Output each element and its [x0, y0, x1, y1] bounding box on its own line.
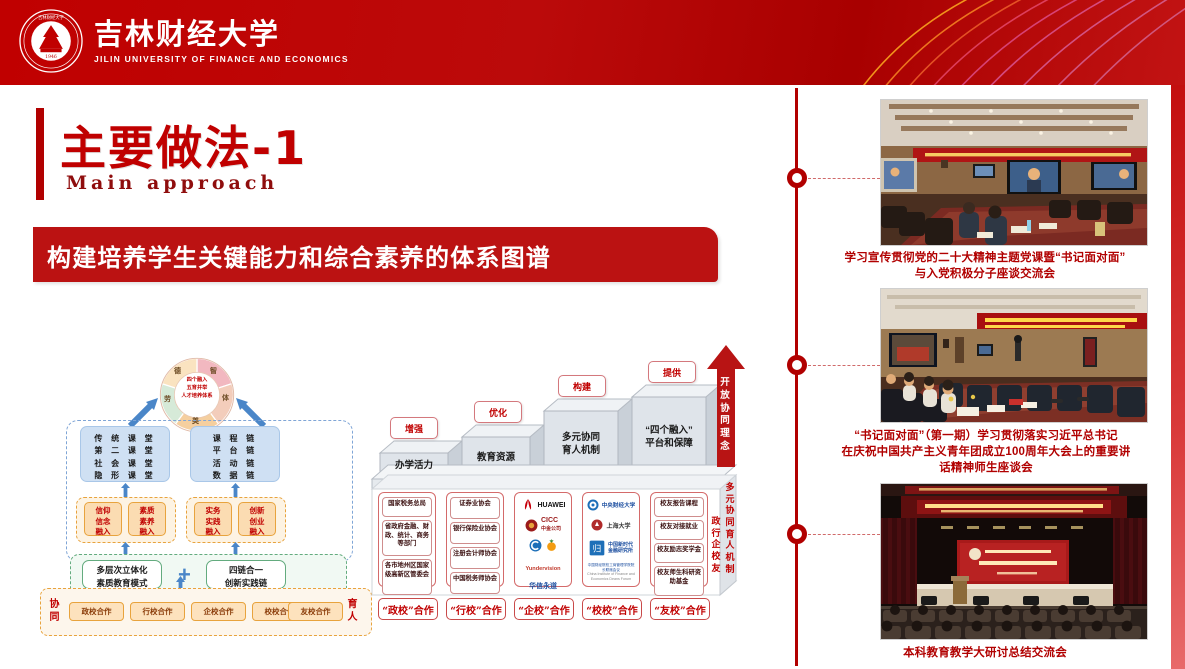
blue-c-icon — [529, 539, 542, 552]
slide-header: 1946 吉林财经大学 吉林财经大学 JILIN UNIVERSITY OF F… — [0, 0, 1185, 85]
fusion-belief-pill: 信仰 信念 融入 — [84, 502, 122, 536]
competency-model-diagram: 四个融入 五育并举 人才培养体系 智 体 美 劳 德 传 统 课 堂 第 二 课… — [40, 350, 370, 640]
svg-text:归: 归 — [593, 542, 602, 554]
coop-pill-4: 友校合作 — [288, 602, 343, 621]
photo-caption-1: “书记面对面”（第一期）学习贯彻落实习近平总书记 在庆祝中国共产主义青年团成立1… — [818, 428, 1154, 476]
step-tag-3: 提供 — [648, 361, 696, 383]
card-item: 校友励志奖学金 — [654, 543, 704, 563]
slide-root: 1946 吉林财经大学 吉林财经大学 JILIN UNIVERSITY OF F… — [0, 0, 1185, 669]
wheel-center-label: 四个融入 五育并举 人才培养体系 — [178, 377, 216, 400]
isometric-mechanism-diagram: 办学活力 教育资源 多元协同育人机制 “四个融入”平台和保障 增强 优化 构建 … — [368, 355, 768, 640]
card-item: 各市地州区国家级高新区管委会 — [382, 559, 432, 595]
coop-label-2: “企校”合作 — [514, 598, 574, 620]
iso-side-text-2: 政行企校友 — [710, 517, 722, 575]
photo-caption-0: 学习宣传贯彻党的二十大精神主题党课暨“书记面对面” 与入党积极分子座谈交流会 — [820, 250, 1150, 282]
photo-conference-room-meeting[interactable] — [880, 99, 1148, 246]
wheel-segment-de: 德 — [174, 366, 181, 376]
partner-card-2: HUAWEI CICC中金公司 Yunder — [514, 492, 572, 587]
photo-2-scene — [881, 289, 1147, 422]
card-item: 校友报告课程 — [654, 497, 704, 517]
band-label-left: 协同 — [48, 599, 61, 624]
step-tag-1: 优化 — [474, 401, 522, 423]
university-name-cn: 吉林财经大学 — [94, 18, 349, 50]
university-logo: 1946 吉林财经大学 吉林财经大学 JILIN UNIVERSITY OF F… — [18, 8, 349, 74]
coop-pill-1: 行校合作 — [130, 602, 185, 621]
card-item: 校友对接就业 — [654, 520, 704, 540]
coop-label-1: “行校”合作 — [446, 598, 506, 620]
orange-fruit-icon — [545, 539, 558, 552]
institute-icon: 归 — [589, 540, 605, 556]
timeline-dot-2[interactable] — [787, 524, 807, 544]
fusion-innovation-pill: 创新 创业 融入 — [238, 502, 276, 536]
arrow-up-right-1-icon — [231, 483, 240, 497]
logo-cicc: CICC中金公司 — [518, 517, 568, 533]
logo-cufe: 中央财经大学 — [586, 497, 636, 513]
partner-card-3: 中央财经大学 上海大学 归 中国新时代金融研究所 中国财经院校工商管理学院院长联… — [582, 492, 640, 587]
card-item: 中国税务师协会 — [450, 572, 500, 594]
band-label-right: 育人 — [346, 599, 359, 624]
arrow-vertical-text: 开放协同理念 — [719, 377, 731, 454]
coop-pill-2: 企校合作 — [191, 602, 246, 621]
partner-card-4: 校友报告课程 校友对接就业 校友励志奖学金 校友师生科研资助基金 — [650, 492, 708, 587]
arrow-up-left-1-icon — [121, 483, 130, 497]
card-item: 银行保险业协会 — [450, 522, 500, 544]
photo-seminar-room-attendees[interactable] — [880, 288, 1148, 423]
classroom-chain-box: 传 统 课 堂 第 二 课 堂 社 会 课 堂 隐 形 课 堂 — [80, 426, 170, 482]
step-tag-0: 增强 — [390, 417, 438, 439]
title-accent-bar — [36, 108, 44, 200]
fusion-quality-pill: 素质 素养 融入 — [128, 502, 166, 536]
photo-auditorium-stage[interactable] — [880, 483, 1148, 640]
wheel-segment-zhi: 智 — [210, 366, 217, 376]
iso-side-text-1: 多元协同育人机制 — [724, 483, 736, 577]
section-banner-text: 构建培养学生关键能力和综合素养的体系图谱 — [47, 238, 551, 273]
card-item: 校友师生科研资助基金 — [654, 566, 704, 596]
step-label-0: 办学活力 — [380, 453, 448, 479]
step-label-3: “四个融入”平台和保障 — [632, 397, 706, 479]
photo-3-scene — [881, 484, 1147, 639]
header-swoosh-decoration — [685, 0, 1185, 85]
step-label-1: 教育资源 — [462, 437, 530, 479]
logo-shu: 上海大学 — [586, 517, 636, 533]
wheel-segment-ti: 体 — [222, 393, 229, 403]
card-item: 省政府金融、财政、统计、商务等部门 — [382, 520, 432, 556]
step-label-2: 多元协同育人机制 — [544, 411, 618, 479]
section-banner: 构建培养学生关键能力和综合素养的体系图谱 — [33, 227, 718, 282]
fusion-practice-pill: 实务 实践 融入 — [194, 502, 232, 536]
card-item: 注册会计师协会 — [450, 547, 500, 569]
coop-label-4: “友校”合作 — [650, 598, 710, 620]
institute-subtitle: 中国财经院校工商管理学院院长联席会议 China Institute of Fi… — [586, 563, 636, 582]
svg-text:1946: 1946 — [45, 54, 57, 60]
coop-label-0: “政校”合作 — [378, 598, 438, 620]
timeline-connector-1 — [808, 365, 880, 366]
four-chain-box: 课 程 链 平 台 链 活 动 链 数 据 链 — [190, 426, 280, 482]
partner-card-1: 证券业协会 银行保险业协会 注册会计师协会 中国税务师协会 — [446, 492, 504, 587]
timeline-connector-2 — [808, 534, 880, 535]
logo-finance-institute: 归 中国新时代金融研究所 — [586, 537, 636, 559]
innovation-chain-box: 四链合一 创新实践链 — [206, 560, 286, 589]
quality-education-model-box: 多层次立体化 素质教育模式 — [82, 560, 162, 589]
timeline-dot-1[interactable] — [787, 355, 807, 375]
university-seal-icon: 1946 吉林财经大学 — [18, 8, 84, 74]
cicc-icon — [525, 519, 538, 532]
timeline-connector-0 — [808, 178, 880, 179]
page-subtitle-en: Main approach — [66, 172, 278, 194]
photo-1-scene — [881, 100, 1147, 245]
partner-card-0: 国家税务总局 省政府金融、财政、统计、商务等部门 各市地州区国家级高新区管委会 — [378, 492, 436, 587]
card-item: 证券业协会 — [450, 497, 500, 519]
wheel-segment-lao: 劳 — [164, 394, 171, 404]
logo-pair-row — [518, 537, 568, 553]
card-item: 国家税务总局 — [382, 497, 432, 517]
page-title: 主要做法-1 — [60, 112, 307, 178]
shu-seal-icon — [591, 519, 603, 531]
step-tag-2: 构建 — [558, 375, 606, 397]
coop-pill-0: 政校合作 — [69, 602, 124, 621]
logo-yundervision: Yundervision 华信永道 — [518, 557, 568, 594]
university-name-en: JILIN UNIVERSITY OF FINANCE AND ECONOMIC… — [94, 54, 349, 64]
cufe-seal-icon — [587, 499, 599, 511]
huawei-icon — [521, 498, 535, 512]
logo-huawei: HUAWEI — [518, 497, 568, 513]
coop-label-3: “校校”合作 — [582, 598, 642, 620]
photo-caption-2: 本科教育教学大研讨总结交流会 — [860, 645, 1110, 661]
timeline-dot-0[interactable] — [787, 168, 807, 188]
